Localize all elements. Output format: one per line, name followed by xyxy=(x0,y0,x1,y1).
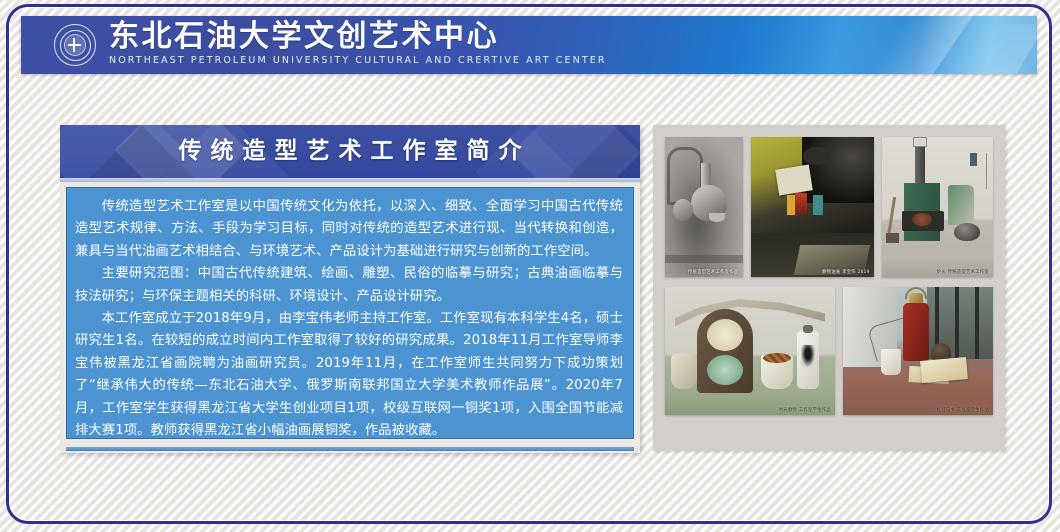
artwork-caption: 静物油画 李宝伟 2019 xyxy=(822,269,870,275)
artwork-green-stove-photo[interactable]: 炉火 传统造型艺术工作室 xyxy=(882,137,993,277)
shelf-shape xyxy=(665,255,743,263)
header-title-chinese: 东北石油大学文创艺术中心 xyxy=(109,18,997,56)
clock-face-shape xyxy=(707,319,743,351)
bowl-shape xyxy=(709,213,725,222)
studio-intro-body: 传统造型艺术工作室是以中国传统文化为依托，以深入、细致、全面学习中国古代传统造型… xyxy=(66,187,634,439)
studio-intro-card: 传统造型艺术工作室简介 传统造型艺术工作室是以中国传统文化为依托，以深入、细致、… xyxy=(60,125,640,453)
artwork-caption: 炉火 传统造型艺术工作室 xyxy=(937,269,989,275)
gallery-row-bottom: 时光静物 工作室学生作品 红灯与书 工作室学生作品 xyxy=(665,287,993,415)
book-shape xyxy=(920,357,968,383)
card-title-underline xyxy=(60,178,640,182)
stove-flue-cap-shape xyxy=(913,137,927,147)
teal-object-shape xyxy=(813,195,823,215)
pot-shape xyxy=(803,147,831,165)
artwork-caption: 时光静物 工作室学生作品 xyxy=(779,407,831,413)
tag-shape xyxy=(970,153,977,166)
header-title-english: NORTHEAST PETROLEUM UNIVERSITY CULTURAL … xyxy=(109,55,997,67)
stove-burner-ring-shape xyxy=(912,213,932,226)
slide-page: 东北石油大学文创艺术中心 NORTHEAST PETROLEUM UNIVERS… xyxy=(0,0,1060,532)
artwork-yellow-dark-still-life[interactable]: 静物油画 李宝伟 2019 xyxy=(751,137,874,277)
seal-inner-ring xyxy=(60,30,91,61)
artwork-charcoal-still-life[interactable]: 传统造型艺术工作室作品 xyxy=(665,137,743,277)
bottle-portrait-shape xyxy=(801,345,815,367)
header-title-zone: 东北石油大学文创艺术中心 NORTHEAST PETROLEUM UNIVERS… xyxy=(109,18,997,67)
jar-shape xyxy=(671,353,697,389)
kettle-shape xyxy=(954,223,980,241)
intro-paragraph: 本工作室成立于2018年9月，由李宝伟老师主持工作室。工作室现有本科学生4名，硕… xyxy=(75,308,623,439)
university-seal-icon xyxy=(54,24,96,66)
gallery-row-top: 传统造型艺术工作室作品 静物油画 李宝伟 2019 xyxy=(665,137,993,277)
shovel-handle-shape xyxy=(887,197,896,237)
card-title: 传统造型艺术工作室简介 xyxy=(60,125,640,178)
lantern-body-shape xyxy=(903,303,929,361)
bottle-cap-shape xyxy=(803,325,813,333)
wire-shape xyxy=(986,153,987,189)
artwork-clock-driftwood-still-life[interactable]: 时光静物 工作室学生作品 xyxy=(665,287,835,415)
stove-flue-shape xyxy=(915,143,925,185)
artwork-gallery: 传统造型艺术工作室作品 静物油画 李宝伟 2019 xyxy=(653,125,1005,451)
clock-dial-shape xyxy=(707,355,743,385)
pot-shape xyxy=(673,199,693,221)
window-bar-shape xyxy=(955,287,959,359)
window-bar-shape xyxy=(975,287,979,359)
seal-core xyxy=(64,34,86,56)
card-bottom-rule xyxy=(66,447,634,451)
intro-paragraph: 传统造型艺术工作室是以中国传统文化为依托，以深入、细致、全面学习中国古代传统造型… xyxy=(75,196,623,263)
nuts-shape xyxy=(763,353,791,363)
artwork-caption: 传统造型艺术工作室作品 xyxy=(688,269,739,275)
header-banner: 东北石油大学文创艺术中心 NORTHEAST PETROLEUM UNIVERS… xyxy=(21,16,1037,74)
cup-shape xyxy=(881,349,901,375)
red-object-shape xyxy=(795,193,807,215)
paper-shape xyxy=(775,165,813,196)
shovel-blade-shape xyxy=(886,233,899,243)
sack-shape xyxy=(948,185,974,225)
card-title-bar: 传统造型艺术工作室简介 xyxy=(60,125,640,178)
artwork-red-lantern-books-still-life[interactable]: 红灯与书 工作室学生作品 xyxy=(843,287,993,415)
artwork-caption: 红灯与书 工作室学生作品 xyxy=(937,407,989,413)
intro-paragraph: 主要研究范围：中国古代传统建筑、绘画、雕塑、民俗的临摹与研究；古典油画临摹与技法… xyxy=(75,263,623,308)
